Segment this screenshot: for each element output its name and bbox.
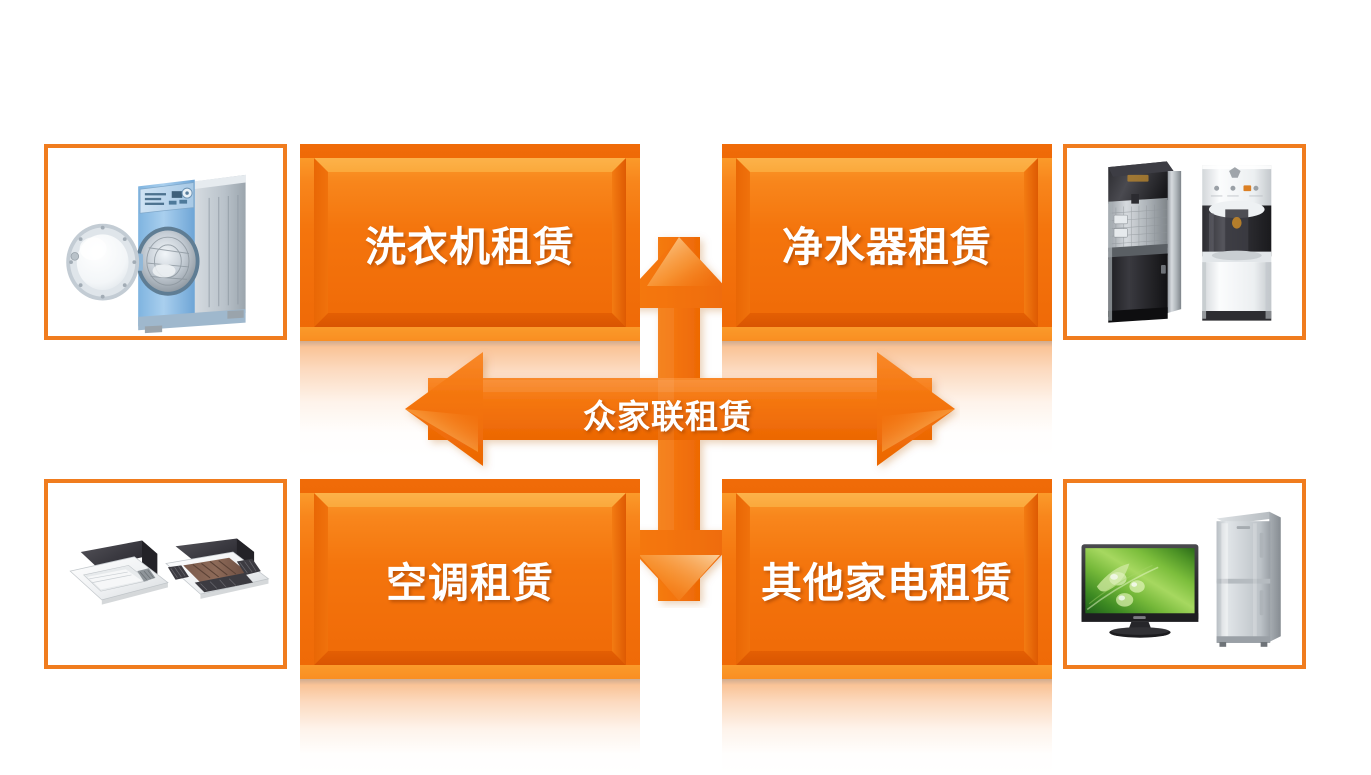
bevel-right-edge [1024,158,1038,327]
reflection-bottom-right [722,679,1052,775]
bevel-bottom-edge [736,313,1038,327]
reflection-top-right [722,341,1052,459]
bevel-top-edge [314,493,626,507]
photo-frame-washing-machine[interactable] [44,144,287,340]
bevel-right-edge [612,158,626,327]
bevel-right-edge [612,493,626,665]
ceiling-cassette-ac-icon [48,483,283,665]
photo-frame-air-conditioner[interactable] [44,479,287,669]
bevel-bottom-edge [314,651,626,665]
diagram-canvas: 众家联租赁 洗衣机租赁 净水器租赁 空调租赁 其他家电租赁 [0,0,1371,775]
tv-and-fridge-icon [1067,483,1302,665]
box-label-other-appliance: 其他家电租赁 [761,549,1013,609]
photo-frame-water-dispenser[interactable] [1063,144,1306,340]
bevel-left-edge [736,158,750,327]
photo-inner [1067,148,1302,336]
bevel-top-edge [314,158,626,172]
center-label: 众家联租赁 [583,390,753,438]
photo-inner [1067,483,1302,665]
bevel-top-edge [736,493,1038,507]
photo-frame-tv-fridge[interactable] [1063,479,1306,669]
box-other-appliance[interactable]: 其他家电租赁 [722,479,1052,679]
bevel-bottom-edge [736,651,1038,665]
box-label-air-conditioner: 空调租赁 [386,549,554,609]
bevel-left-edge [314,158,328,327]
box-label-washing-machine: 洗衣机租赁 [365,213,575,273]
bevel-left-edge [314,493,328,665]
box-air-conditioner[interactable]: 空调租赁 [300,479,640,679]
box-washing-machine[interactable]: 洗衣机租赁 [300,144,640,341]
box-label-water-purifier: 净水器租赁 [782,213,992,273]
bevel-bottom-edge [314,313,626,327]
photo-inner [48,483,283,665]
bevel-top-edge [736,158,1038,172]
bevel-left-edge [736,493,750,665]
water-dispenser-icon [1067,148,1302,336]
box-water-purifier[interactable]: 净水器租赁 [722,144,1052,341]
bevel-right-edge [1024,493,1038,665]
photo-inner [48,148,283,336]
reflection-bottom-left [300,679,640,775]
washing-machine-icon [48,148,283,336]
